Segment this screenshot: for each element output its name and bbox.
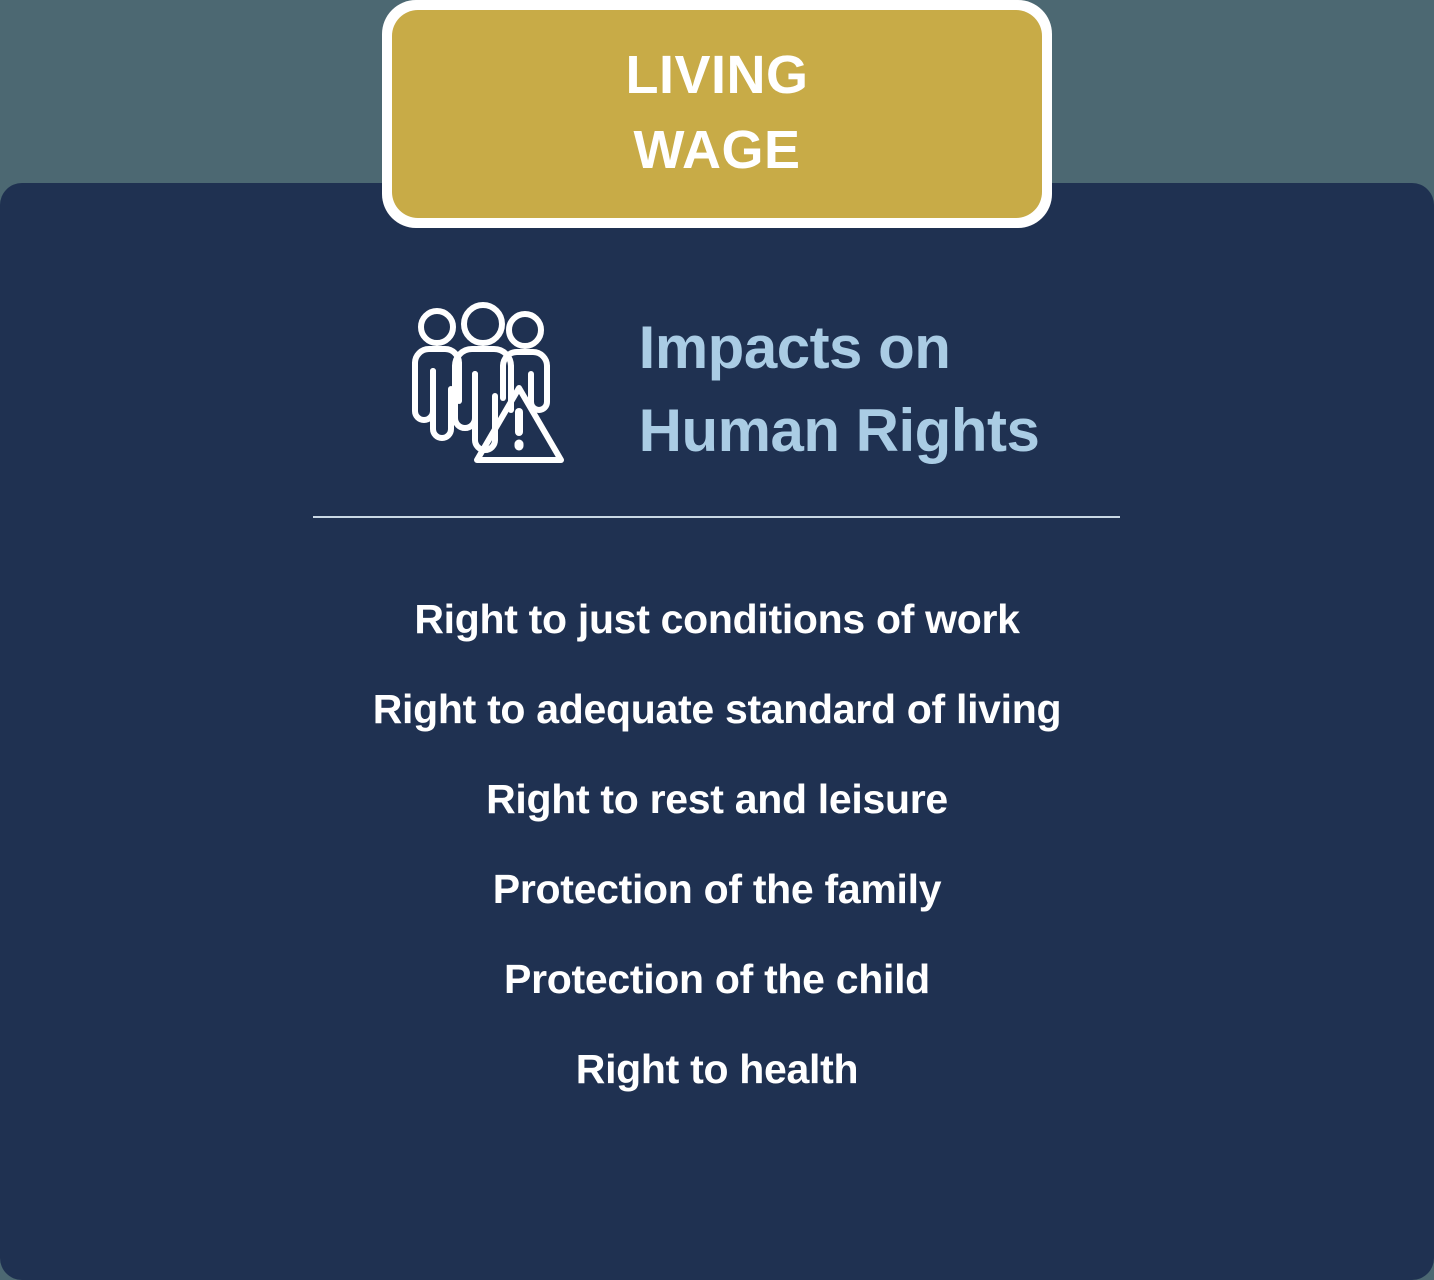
list-item: Protection of the family [493,845,941,935]
badge-line-2: WAGE [633,113,800,188]
badge-inner: LIVING WAGE [392,10,1042,218]
list-item: Right to adequate standard of living [373,665,1062,755]
section-title: Impacts on Human Rights [639,307,1040,473]
list-item: Right to just conditions of work [414,575,1019,665]
list-item: Protection of the child [504,935,930,1025]
people-with-warning-icon [395,300,581,480]
content-card: Impacts on Human Rights Right to just co… [0,183,1434,1280]
infographic-page: Impacts on Human Rights Right to just co… [0,0,1434,1280]
list-item: Right to health [576,1025,858,1115]
divider [313,516,1120,518]
badge-line-1: LIVING [625,38,808,113]
section-header: Impacts on Human Rights [0,300,1434,480]
list-item: Right to rest and leisure [486,755,948,845]
rights-list: Right to just conditions of work Right t… [0,575,1434,1115]
living-wage-badge: LIVING WAGE [382,0,1052,228]
